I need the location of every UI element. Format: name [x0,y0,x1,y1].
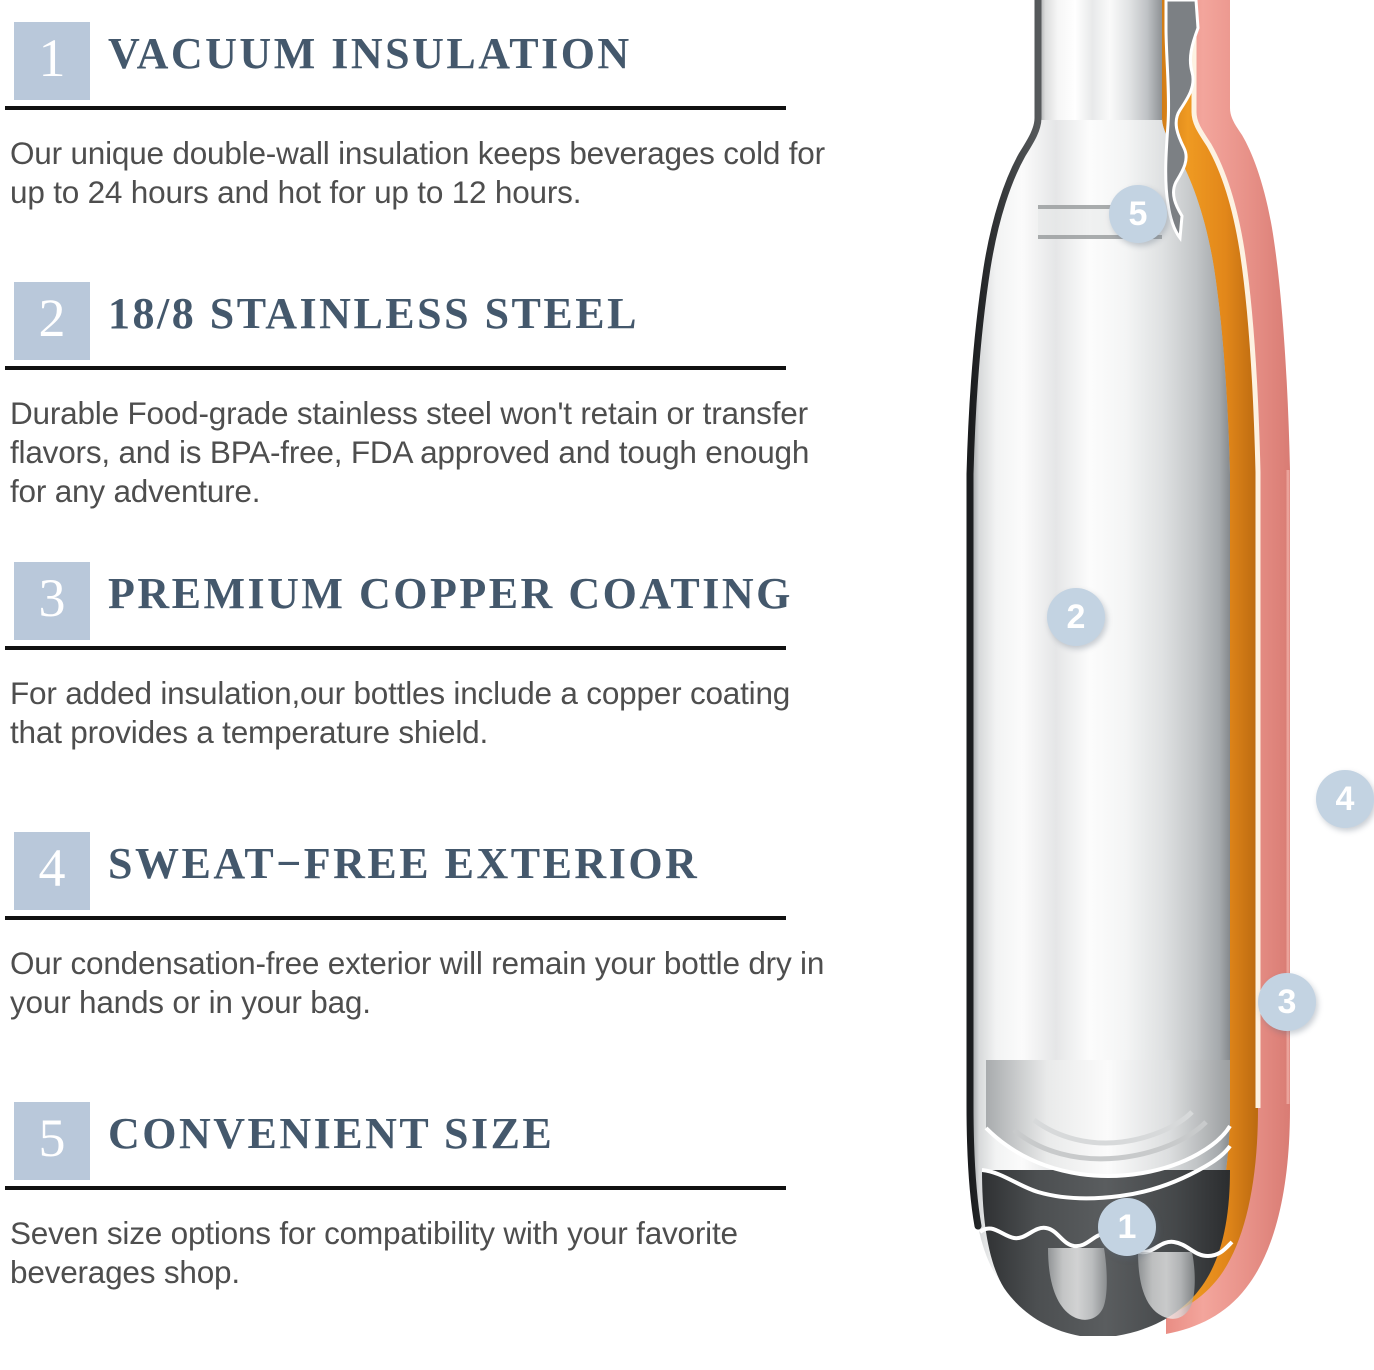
feature-list: 1 VACUUM INSULATION Our unique double-wa… [0,0,880,1370]
feature-header: 1 VACUUM INSULATION [0,22,860,100]
feature-divider [5,916,786,920]
feature-number-badge: 3 [14,562,90,640]
feature-item-4: 4 SWEAT−FREE EXTERIOR Our condensation-f… [0,832,860,910]
feature-title: SWEAT−FREE EXTERIOR [108,838,699,889]
feature-header: 5 CONVENIENT SIZE [0,1102,860,1180]
feature-header: 2 18/8 STAINLESS STEEL [0,282,860,360]
feature-title: VACUUM INSULATION [108,28,632,79]
feature-title: 18/8 STAINLESS STEEL [108,288,639,339]
feature-item-2: 2 18/8 STAINLESS STEEL Durable Food-grad… [0,282,860,360]
callout-badge-2[interactable]: 2 [1047,588,1105,646]
feature-item-3: 3 PREMIUM COPPER COATING For added insul… [0,562,860,640]
feature-divider [5,106,786,110]
feature-item-1: 1 VACUUM INSULATION Our unique double-wa… [0,22,860,100]
feature-number-badge: 2 [14,282,90,360]
callout-badge-5[interactable]: 5 [1109,185,1167,243]
feature-number-badge: 4 [14,832,90,910]
infographic-page: 1 VACUUM INSULATION Our unique double-wa… [0,0,1374,1370]
feature-description: Seven size options for compatibility wit… [10,1214,840,1292]
feature-divider [5,366,786,370]
callout-badge-3[interactable]: 3 [1258,973,1316,1031]
callout-badge-4[interactable]: 4 [1316,770,1374,828]
feature-title: CONVENIENT SIZE [108,1108,554,1159]
feature-description: Our unique double-wall insulation keeps … [10,134,840,212]
callout-badge-1[interactable]: 1 [1098,1198,1156,1256]
feature-number-badge: 5 [14,1102,90,1180]
feature-number-badge: 1 [14,22,90,100]
feature-item-5: 5 CONVENIENT SIZE Seven size options for… [0,1102,860,1180]
feature-header: 4 SWEAT−FREE EXTERIOR [0,832,860,910]
feature-description: For added insulation,our bottles include… [10,674,840,752]
feature-description: Our condensation-free exterior will rema… [10,944,840,1022]
feature-header: 3 PREMIUM COPPER COATING [0,562,860,640]
feature-divider [5,1186,786,1190]
feature-description: Durable Food-grade stainless steel won't… [10,394,840,511]
feature-title: PREMIUM COPPER COATING [108,568,793,619]
feature-divider [5,646,786,650]
